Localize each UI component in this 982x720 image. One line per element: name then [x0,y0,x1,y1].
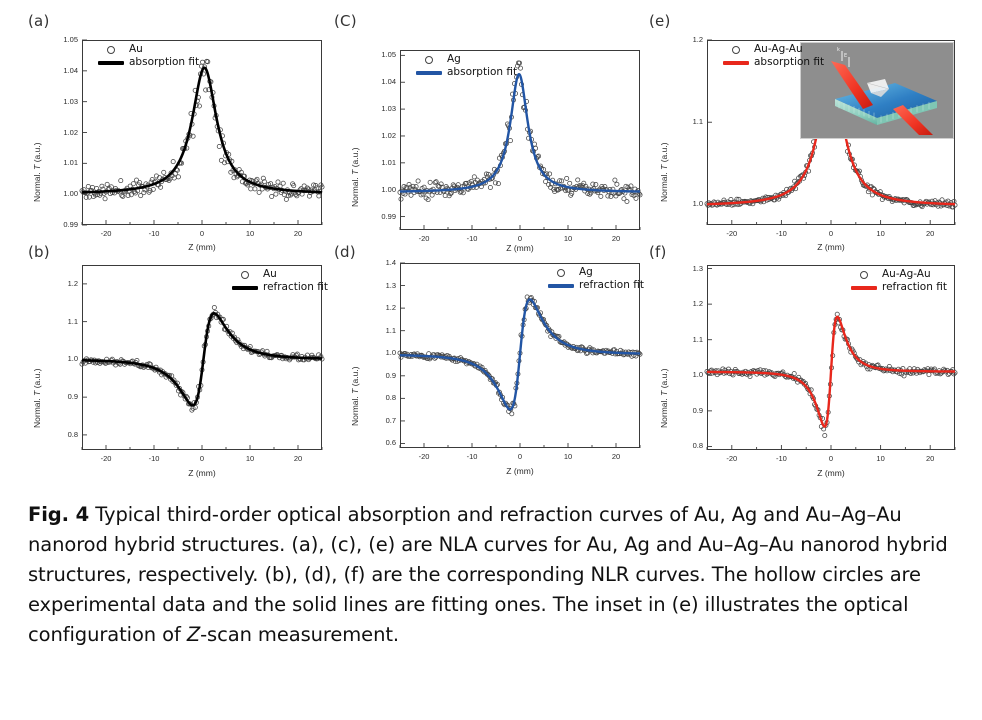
x-tick-label: 10 [865,229,897,238]
y-tick-label: 1.03 [46,97,78,106]
caption-body: Typical third-order optical absorption a… [28,503,948,646]
y-tick-label: 1.3 [671,264,703,273]
legend-item-data: Ag [548,266,644,279]
y-tick-label: 0.99 [46,220,78,229]
panel-a: (a) Au absorption fit Normal. T (a.u.) Z… [20,12,330,252]
legend-label-fit: refraction fit [882,281,947,294]
y-tick-label: 1.04 [364,77,396,86]
circle-marker-icon [416,56,442,64]
panel-d-legend: Ag refraction fit [548,266,644,292]
legend-item-data: Au [232,268,328,281]
legend-item-data: Ag [416,53,517,66]
y-tick-label: 1.05 [46,35,78,44]
x-tick-label: -10 [765,229,797,238]
figure-4: (a) Au absorption fit Normal. T (a.u.) Z… [0,0,982,720]
y-tick-label: 1.2 [671,299,703,308]
legend-item-fit: absorption fit [723,56,824,69]
panel-f: (f) Au-Ag-Au refraction fit Normal. T (a… [645,243,975,488]
legend-item-fit: refraction fit [851,281,947,294]
panel-e-legend: Au-Ag-Au absorption fit [723,43,824,69]
panel-f-ylabel: Normal. T (a.u.) [659,368,669,428]
legend-label-fit: absorption fit [754,56,824,69]
legend-item-fit: absorption fit [416,66,517,79]
panel-b-legend: Au refraction fit [232,268,328,294]
y-tick-label: 0.99 [364,212,396,221]
y-tick-label: 1.0 [671,199,703,208]
y-tick-label: 1.00 [46,189,78,198]
x-tick-label: -10 [138,454,170,463]
y-tick-label: 1.4 [364,258,396,267]
x-tick-label: -10 [765,454,797,463]
legend-label-data: Ag [579,266,593,279]
x-tick-label: 20 [282,454,314,463]
legend-label-fit: absorption fit [129,56,199,69]
y-tick-label: 1.04 [46,66,78,75]
legend-item-fit: absorption fit [98,56,199,69]
figure-caption: Fig. 4 Typical third-order optical absor… [28,500,956,650]
y-tick-label: 1.0 [46,354,78,363]
legend-item-data: Au [98,43,199,56]
caption-figure-number: Fig. 4 [28,503,89,526]
x-tick-label: -20 [716,229,748,238]
y-tick-label: 0.9 [364,371,396,380]
x-tick-label: 10 [234,454,266,463]
svg-text:k: k [837,47,840,53]
panel-e: (e) [645,12,975,252]
x-tick-label: -10 [456,234,488,243]
y-tick-label: 0.8 [46,430,78,439]
x-tick-label: 20 [282,229,314,238]
y-tick-label: 1.1 [671,335,703,344]
panel-c-legend: Ag absorption fit [416,53,517,79]
y-tick-label: 0.6 [364,438,396,447]
panel-grid: (a) Au absorption fit Normal. T (a.u.) Z… [0,0,982,490]
y-tick-label: 1.0 [671,370,703,379]
x-tick-label: -20 [408,234,440,243]
x-tick-label: -20 [90,229,122,238]
panel-b-xlabel: Z (mm) [142,468,262,478]
x-tick-label: 10 [552,234,584,243]
legend-label-data: Au-Ag-Au [754,43,803,56]
panel-f-xlabel: Z (mm) [771,468,891,478]
y-tick-label: 0.7 [364,416,396,425]
panel-b-ylabel: Normal. T (a.u.) [32,368,42,428]
y-tick-label: 1.2 [671,35,703,44]
x-tick-label: 0 [186,454,218,463]
y-tick-label: 1.00 [364,185,396,194]
legend-label-fit: refraction fit [263,281,328,294]
legend-label-fit: absorption fit [447,66,517,79]
circle-marker-icon [98,46,124,54]
y-tick-label: 1.02 [46,128,78,137]
x-tick-label: 20 [600,452,632,461]
x-tick-label: 10 [865,454,897,463]
panel-a-legend: Au absorption fit [98,43,199,69]
x-tick-label: 10 [234,229,266,238]
x-tick-label: -20 [716,454,748,463]
legend-item-fit: refraction fit [232,281,328,294]
y-tick-label: 1.0 [364,348,396,357]
panel-d-ylabel: Normal. T (a.u.) [350,366,360,426]
circle-marker-icon [723,46,749,54]
x-tick-label: 10 [552,452,584,461]
y-tick-label: 1.03 [364,104,396,113]
y-tick-label: 1.02 [364,131,396,140]
x-tick-label: 20 [914,454,946,463]
y-tick-label: 1.1 [671,117,703,126]
y-tick-label: 1.3 [364,281,396,290]
x-tick-label: 0 [815,454,847,463]
y-tick-label: 0.9 [46,392,78,401]
y-tick-label: 1.2 [364,303,396,312]
x-tick-label: -20 [408,452,440,461]
y-tick-label: 1.05 [364,50,396,59]
legend-item-data: Au-Ag-Au [851,268,947,281]
y-tick-label: 1.01 [364,158,396,167]
line-marker-icon [232,286,258,290]
x-tick-label: -10 [456,452,488,461]
legend-label-data: Ag [447,53,461,66]
x-tick-label: -10 [138,229,170,238]
circle-marker-icon [232,271,258,279]
panel-d: (d) Ag refraction fit Normal. T (a.u.) Z… [330,243,645,488]
line-marker-icon [723,61,749,65]
x-tick-label: 0 [504,452,536,461]
y-tick-label: 0.9 [671,406,703,415]
line-marker-icon [851,286,877,290]
line-marker-icon [416,71,442,75]
x-tick-label: 0 [504,234,536,243]
panel-f-legend: Au-Ag-Au refraction fit [851,268,947,294]
y-tick-label: 1.1 [364,326,396,335]
x-tick-label: 0 [186,229,218,238]
legend-label-fit: refraction fit [579,279,644,292]
x-tick-label: 20 [600,234,632,243]
legend-label-data: Au [129,43,143,56]
y-tick-label: 0.8 [671,441,703,450]
legend-label-data: Au [263,268,277,281]
panel-e-ylabel: Normal. T (a.u.) [659,142,669,202]
panel-a-ylabel: Normal. T (a.u.) [32,142,42,202]
x-tick-label: -20 [90,454,122,463]
x-tick-label: 0 [815,229,847,238]
line-marker-icon [548,284,574,288]
legend-item-fit: refraction fit [548,279,644,292]
panel-c: (C) Ag absorption fit Normal. T (a.u.) Z… [330,12,640,252]
x-tick-label: 20 [914,229,946,238]
line-marker-icon [98,61,124,65]
panel-c-ylabel: Normal. T (a.u.) [350,147,360,207]
y-tick-label: 0.8 [364,393,396,402]
circle-marker-icon [851,271,877,279]
y-tick-label: 1.2 [46,279,78,288]
svg-text:E: E [844,53,847,59]
y-tick-label: 1.1 [46,317,78,326]
circle-marker-icon [548,269,574,277]
y-tick-label: 1.01 [46,158,78,167]
legend-label-data: Au-Ag-Au [882,268,931,281]
panel-d-xlabel: Z (mm) [460,466,580,476]
legend-item-data: Au-Ag-Au [723,43,824,56]
panel-b: (b) Au refraction fit Normal. T (a.u.) Z… [20,243,330,488]
